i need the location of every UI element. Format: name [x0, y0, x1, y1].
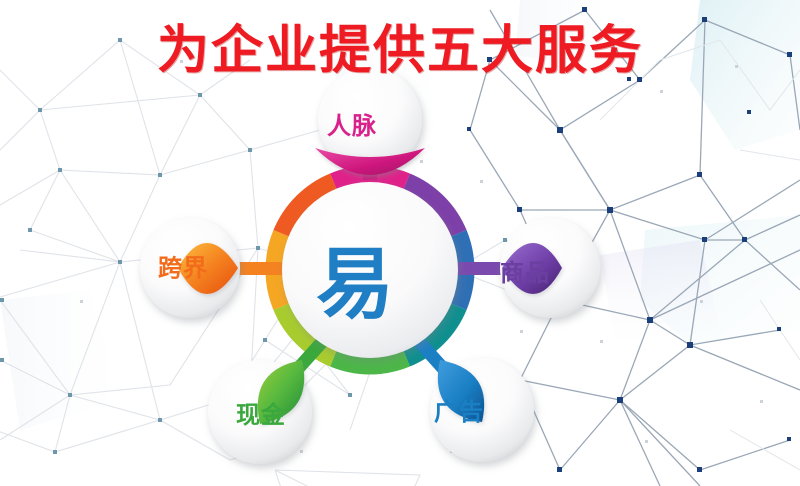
- node-guanggao[interactable]: [430, 358, 534, 462]
- spoke-shangpin: [458, 262, 502, 275]
- hub-circle: [282, 182, 458, 358]
- page-title: 为企业提供五大服务: [0, 8, 800, 83]
- node-shangpin[interactable]: [500, 218, 600, 318]
- poster-canvas: 为企业提供五大服务: [0, 0, 800, 486]
- spoke-kuajie: [238, 262, 282, 275]
- five-services-hub-diagram: [110, 70, 630, 480]
- node-renmai[interactable]: [315, 70, 425, 175]
- node-xianjin[interactable]: [208, 360, 312, 464]
- node-kuajie[interactable]: [140, 218, 240, 318]
